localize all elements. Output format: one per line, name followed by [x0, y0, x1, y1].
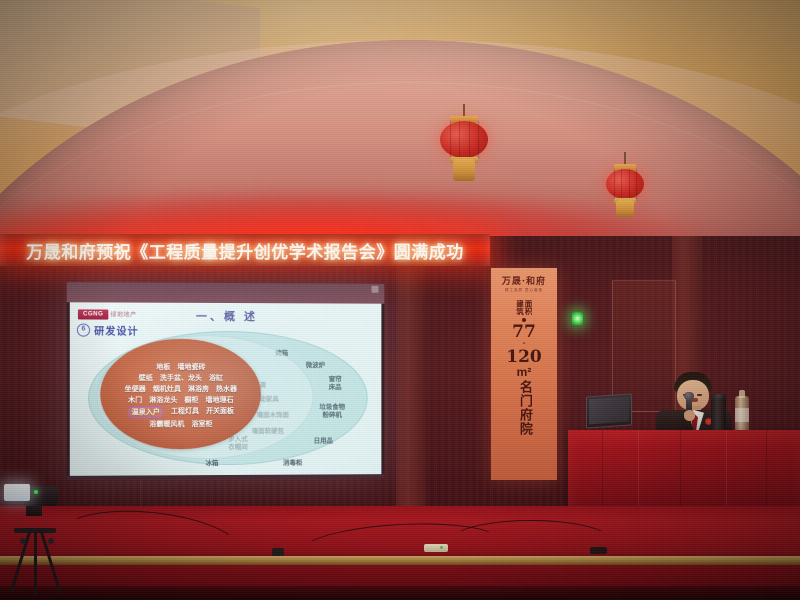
venn-inner-item: 工程灯具 — [171, 406, 199, 418]
venn-inner-row: 温泉入户工程灯具开关面板 — [100, 405, 261, 417]
screen-corner-mark — [372, 286, 379, 293]
venn-outer-item: 日用品 — [314, 438, 333, 446]
section-number-badge: 6 — [77, 324, 90, 337]
lantern-rib — [636, 169, 637, 199]
power-adapter — [590, 547, 607, 554]
venn-outer-item: 消毒柜 — [283, 460, 302, 468]
venn-inner-row: 浴霸暖风机浴室柜 — [100, 418, 261, 428]
venn-inner-item: 开关面板 — [206, 405, 234, 417]
speaker-eye-right — [697, 394, 702, 396]
lantern-rib — [614, 169, 615, 199]
lantern-body — [606, 169, 644, 199]
vbanner-area-label: 建筑 面积 — [516, 300, 532, 315]
venn-inner-item: 热水器 — [216, 383, 237, 393]
vbanner-unit: m² — [517, 366, 532, 378]
vbanner-brand-subtitle: 精工品质 匠心营造 — [505, 288, 543, 293]
venn-inner-item: 浴室柜 — [191, 419, 212, 429]
venn-inner-item: 橱柜 — [184, 395, 198, 405]
led-banner-text: 万晟和府预祝《工程质量提升创优学术报告会》圆满成功 — [26, 238, 464, 263]
venn-inner-row: 地板墙地瓷砖 — [100, 361, 261, 371]
vbanner-tagline: 名门府院 — [517, 380, 531, 436]
laptop-lid — [586, 393, 632, 428]
venn-inner-item: 墙地理石 — [206, 394, 234, 404]
red-lantern — [440, 104, 488, 166]
wall-pillar-left — [396, 236, 426, 506]
tripod-knob — [48, 538, 54, 544]
venn-inner-item: 淋浴龙头 — [149, 395, 177, 405]
lantern-rib — [621, 169, 622, 199]
venn-inner-item: 浴缸 — [209, 372, 223, 382]
venn-inner-item: 墙地瓷砖 — [177, 361, 205, 371]
venn-inner-ellipse: 地板墙地瓷砖壁纸洗手盆、龙头浴缸坐便器烟机灶具淋浴房热水器木门淋浴龙头橱柜墙地理… — [100, 339, 261, 450]
presentation-slide: CGNG 绿地地产 一、概 述 6 研发设计 洗衣机烤箱微波炉主灯具中央空调窗帘… — [70, 302, 382, 476]
tripod-head — [26, 506, 42, 516]
venn-outer-item: 冰箱 — [206, 460, 219, 468]
venn-outer-item: 垃圾食物粉碎机 — [319, 404, 345, 420]
power-strip — [424, 544, 448, 552]
venn-inner-item: 温泉入户 — [128, 406, 164, 418]
floor-cable — [450, 520, 612, 562]
vertical-property-banner: 万晟·和府 精工品质 匠心营造 建筑 面积 77 - 120 m² 名门府院 — [491, 268, 557, 480]
led-banner: 万晟和府预祝《工程质量提升创优学术报告会》圆满成功 — [0, 234, 490, 266]
floor-puck-device — [272, 548, 284, 556]
tripod-leg — [34, 532, 37, 596]
lantern-body — [440, 121, 488, 158]
lantern-tassel — [616, 200, 633, 217]
tripod-knob — [20, 538, 26, 544]
venn-inner-row: 壁纸洗手盆、龙头浴缸 — [100, 372, 261, 382]
venn-outer-item: 窗帘床品 — [329, 376, 342, 392]
vbanner-area-label-1: 建筑 — [516, 300, 524, 315]
section-label: 研发设计 — [94, 323, 139, 338]
lantern-rib — [459, 121, 460, 158]
speaker-presenter — [648, 372, 740, 434]
vbanner-brand: 万晟·和府 — [502, 274, 546, 287]
conference-hall-scene: 万晟和府预祝《工程质量提升创优学术报告会》圆满成功 CGNG 绿地地产 一、概 … — [0, 0, 800, 600]
venn-inner-item: 壁纸 — [139, 372, 153, 382]
red-lantern — [606, 152, 644, 202]
power-strip-led — [440, 546, 443, 549]
venn-inner-item: 浴霸暖风机 — [149, 419, 184, 429]
venn-inner-row: 坐便器烟机灶具淋浴房热水器 — [100, 383, 261, 393]
microphone-head — [684, 392, 694, 400]
floor-shadow — [0, 586, 800, 600]
slide-section-header: 6 研发设计 — [77, 322, 139, 337]
camera-tripod — [2, 476, 72, 596]
bottle-label — [735, 408, 749, 422]
venn-inner-item: 淋浴房 — [188, 384, 209, 394]
lantern-tassel — [453, 159, 475, 180]
camera-lcd-screen — [4, 484, 30, 501]
venn-inner-item: 烟机灶具 — [153, 384, 181, 394]
venn-inner-item: 坐便器 — [125, 384, 146, 394]
emergency-exit-light — [572, 312, 583, 325]
screen-top-band — [67, 282, 385, 304]
venn-inner-item: 洗手盆、龙头 — [160, 372, 202, 382]
projection-screen: CGNG 绿地地产 一、概 述 6 研发设计 洗衣机烤箱微波炉主灯具中央空调窗帘… — [67, 282, 385, 480]
lantern-rib — [478, 121, 479, 158]
speaker-hand — [684, 410, 695, 421]
lantern-rib — [629, 169, 630, 199]
venn-inner-items: 地板墙地瓷砖壁纸洗手盆、龙头浴缸坐便器烟机灶具淋浴房热水器木门淋浴龙头橱柜墙地理… — [100, 339, 261, 450]
venn-inner-item: 木门 — [128, 395, 142, 405]
vbanner-area-label-2: 面积 — [525, 300, 533, 315]
venn-inner-row: 木门淋浴龙头橱柜墙地理石 — [100, 394, 261, 404]
camera-record-led — [34, 490, 38, 494]
vbanner-number-to: 120 — [506, 349, 542, 366]
laptop — [586, 393, 630, 430]
laptop-screen — [589, 397, 629, 425]
lantern-rib — [450, 121, 451, 158]
lantern-rib — [469, 121, 470, 158]
venn-inner-item: 地板 — [156, 361, 170, 371]
thermos — [711, 398, 726, 432]
venn-outer-item: 微波炉 — [306, 362, 325, 370]
